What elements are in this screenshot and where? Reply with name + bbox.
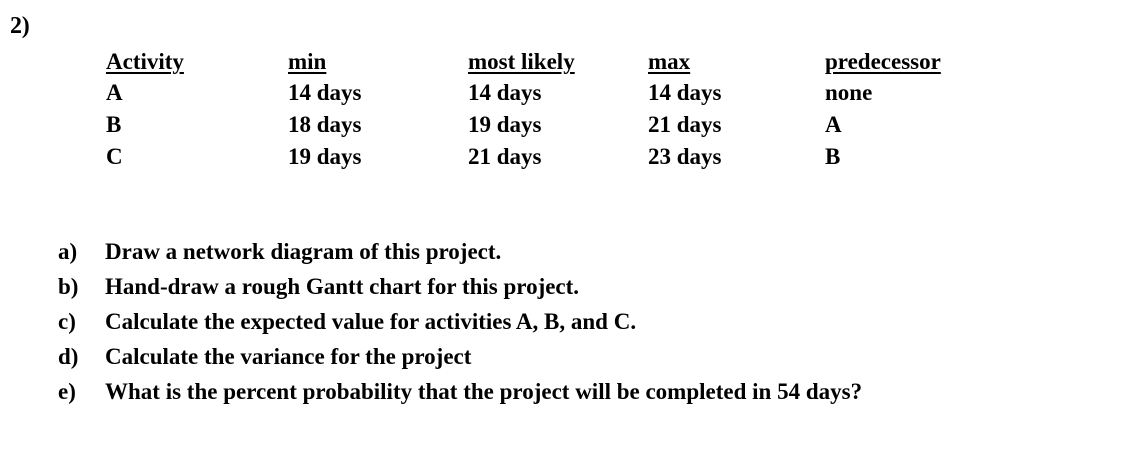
table-row: B 18 days 19 days 21 days A bbox=[106, 113, 1005, 145]
list-item: b) Hand-draw a rough Gantt chart for thi… bbox=[58, 275, 862, 310]
question-number: 2) bbox=[10, 14, 30, 38]
cell-max: 14 days bbox=[648, 81, 825, 113]
cell-most-likely: 19 days bbox=[468, 113, 648, 145]
list-item-marker: b) bbox=[58, 275, 105, 298]
column-header-predecessor: predecessor bbox=[825, 50, 1005, 81]
list-item-label: Draw a network diagram of this project. bbox=[105, 240, 501, 263]
list-item: c) Calculate the expected value for acti… bbox=[58, 310, 862, 345]
list-item-marker: e) bbox=[58, 380, 105, 403]
cell-most-likely: 21 days bbox=[468, 145, 648, 177]
table-row: A 14 days 14 days 14 days none bbox=[106, 81, 1005, 113]
list-item: d) Calculate the variance for the projec… bbox=[58, 345, 862, 380]
cell-activity: C bbox=[106, 145, 288, 177]
list-item-marker: a) bbox=[58, 240, 105, 263]
table-row: C 19 days 21 days 23 days B bbox=[106, 145, 1005, 177]
task-list: a) Draw a network diagram of this projec… bbox=[58, 240, 862, 415]
document-page: 2) Activity min most likely max predeces… bbox=[0, 0, 1138, 454]
list-item: a) Draw a network diagram of this projec… bbox=[58, 240, 862, 275]
list-item-label: Calculate the variance for the project bbox=[105, 345, 471, 368]
column-header-max: max bbox=[648, 50, 825, 81]
cell-min: 14 days bbox=[288, 81, 468, 113]
activity-duration-table: Activity min most likely max predecessor… bbox=[106, 50, 1005, 177]
column-header-most-likely: most likely bbox=[468, 50, 648, 81]
cell-predecessor: none bbox=[825, 81, 1005, 113]
cell-max: 21 days bbox=[648, 113, 825, 145]
list-item-marker: d) bbox=[58, 345, 105, 368]
cell-predecessor: A bbox=[825, 113, 1005, 145]
column-header-min: min bbox=[288, 50, 468, 81]
list-item-marker: c) bbox=[58, 310, 105, 333]
cell-max: 23 days bbox=[648, 145, 825, 177]
table-header-row: Activity min most likely max predecessor bbox=[106, 50, 1005, 81]
list-item-label: What is the percent probability that the… bbox=[105, 380, 862, 403]
cell-min: 19 days bbox=[288, 145, 468, 177]
list-item-label: Hand-draw a rough Gantt chart for this p… bbox=[105, 275, 579, 298]
cell-predecessor: B bbox=[825, 145, 1005, 177]
column-header-activity: Activity bbox=[106, 50, 288, 81]
cell-activity: B bbox=[106, 113, 288, 145]
cell-min: 18 days bbox=[288, 113, 468, 145]
cell-most-likely: 14 days bbox=[468, 81, 648, 113]
cell-activity: A bbox=[106, 81, 288, 113]
list-item-label: Calculate the expected value for activit… bbox=[105, 310, 636, 333]
list-item: e) What is the percent probability that … bbox=[58, 380, 862, 415]
